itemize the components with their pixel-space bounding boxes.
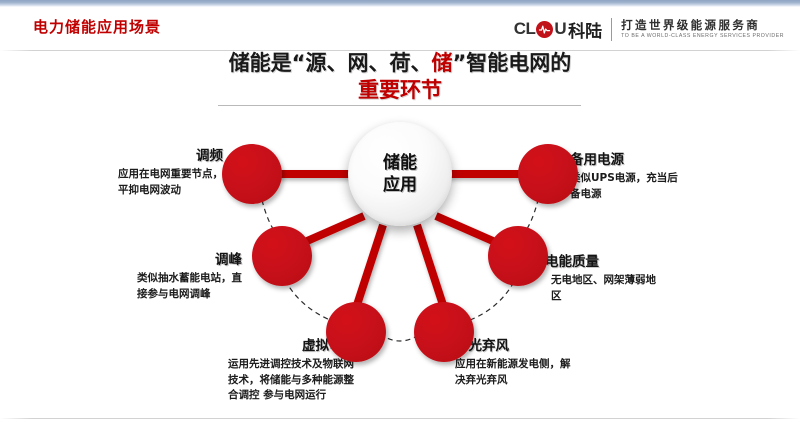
logo-slogan: 打造世界级能源服务商 TO BE A WORLD-CLASS ENERGY SE… [621,19,784,40]
company-logo: CL U 科陆 打造世界级能源服务商 TO BE A WORLD-CLASS E… [514,15,784,43]
label-frequency-regulation: 调频 应用在电网重要节点，平抑电网波动 [118,148,223,198]
arc-curtailment-quality [470,280,515,320]
page-title-seg-b: ”智能电网的 [453,51,572,75]
logo-divider [611,18,612,41]
page-title-line2: 重要环节 [358,78,442,102]
node-virtual-power-plant[interactable] [326,302,386,362]
label-power-quality-desc: 无电地区、网架薄弱地区 [545,273,663,304]
label-backup-power-title: 备用电源 [570,152,688,169]
label-backup-power: 备用电源 类似UPS电源，充当后备电源 [570,152,688,202]
hub-label: 储能 应用 [383,152,417,196]
node-frequency-regulation[interactable] [222,144,282,204]
logo-pulse-icon [536,21,553,38]
logo-brand-cn: 科陆 [568,17,602,42]
label-curtailment: 弃光弃风 应用在新能源发电侧，解决弃光弃风 [455,338,575,388]
slide-header: 电力储能应用场景 CL U 科陆 打造世界级能源服务商 TO BE A WORL… [0,7,800,43]
page-title-seg-a: 储能是“源、网、荷、 [229,51,432,75]
footer-divider [0,418,800,419]
label-virtual-power-plant-desc: 运用先进调控技术及物联网技术，将储能与多种能源整合调控 参与电网运行 [228,357,356,404]
page-title: 储能是“源、网、荷、储”智能电网的 重要环节 [0,50,800,104]
title-underline [218,105,581,106]
label-curtailment-title: 弃光弃风 [455,338,575,355]
logo-slogan-en: TO BE A WORLD-CLASS ENERGY SERVICES PROV… [621,32,784,40]
link-hub-curtailment [417,225,444,308]
page-title-seg-highlight: 储 [432,51,453,75]
logo-latin-right: U [554,19,566,39]
label-frequency-regulation-title: 调频 [118,148,223,165]
node-curtailment[interactable] [414,302,474,362]
slide-canvas: 电力储能应用场景 CL U 科陆 打造世界级能源服务商 TO BE A WORL… [0,0,800,428]
label-frequency-regulation-desc: 应用在电网重要节点，平抑电网波动 [118,167,223,198]
logo-mark: CL U 科陆 [514,18,602,40]
label-curtailment-desc: 应用在新能源发电侧，解决弃光弃风 [455,357,575,388]
header-title: 电力储能应用场景 [33,16,161,37]
label-backup-power-desc: 类似UPS电源，充当后备电源 [570,171,688,202]
page-title-line1: 储能是“源、网、荷、储”智能电网的 [229,51,572,75]
top-accent-strip [0,0,800,7]
hub-label-line1: 储能 [383,152,417,174]
hub-circle[interactable]: 储能 应用 [348,122,452,226]
node-peak-shaving[interactable] [252,226,312,286]
node-backup-power[interactable] [518,144,578,204]
arc-peak-vpp [285,280,330,320]
label-peak-shaving-desc: 类似抽水蓄能电站，直接参与电网调峰 [137,271,242,302]
label-peak-shaving-title: 调峰 [137,252,242,269]
label-power-quality-title: 电能质量 [545,254,663,271]
logo-latin-left: CL [514,19,536,39]
link-hub-vpp [356,225,383,308]
hub-label-line2: 应用 [383,174,417,196]
logo-slogan-cn: 打造世界级能源服务商 [621,19,784,32]
label-peak-shaving: 调峰 类似抽水蓄能电站，直接参与电网调峰 [137,252,242,302]
node-power-quality[interactable] [488,226,548,286]
label-power-quality: 电能质量 无电地区、网架薄弱地区 [545,254,663,304]
